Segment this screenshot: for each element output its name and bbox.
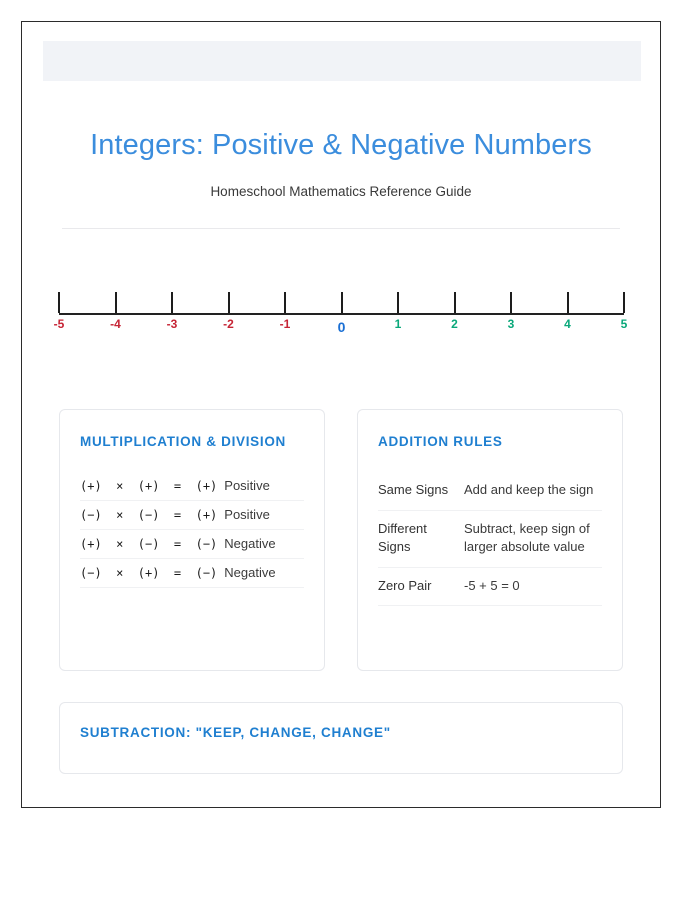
number-line-label: -4	[110, 317, 121, 331]
multiplication-rule-row: (+) × (+) = (+)Positive	[80, 472, 304, 501]
number-line-ticks	[59, 277, 624, 313]
number-line-tick	[58, 292, 60, 313]
number-line-tick	[510, 292, 512, 313]
addition-rules-table: Same SignsAdd and keep the signDifferent…	[378, 472, 602, 606]
number-line-label: 1	[395, 317, 402, 331]
rules-card-row: MULTIPLICATION & DIVISION (+) × (+) = (+…	[22, 409, 660, 671]
number-line-axis	[59, 313, 624, 315]
addition-rule-value: -5 + 5 = 0	[464, 567, 602, 605]
addition-rule-key: Same Signs	[378, 472, 464, 510]
header-divider	[62, 228, 620, 229]
number-line-tick	[454, 292, 456, 313]
number-line-tick	[228, 292, 230, 313]
multiplication-expression: (+) × (−) = (−)	[80, 537, 217, 551]
number-line-tick	[623, 292, 625, 313]
number-line-label: 3	[508, 317, 515, 331]
number-line-label: 0	[338, 319, 346, 335]
addition-rule-row: Zero Pair-5 + 5 = 0	[378, 567, 602, 605]
multiplication-division-card: MULTIPLICATION & DIVISION (+) × (+) = (+…	[59, 409, 325, 671]
multiplication-rule-row: (−) × (+) = (−)Negative	[80, 559, 304, 588]
addition-rule-row: Different SignsSubtract, keep sign of la…	[378, 510, 602, 567]
number-line-label: 2	[451, 317, 458, 331]
addition-rule-key: Different Signs	[378, 510, 464, 567]
multiplication-result-word: Negative	[224, 565, 275, 580]
number-line-tick	[115, 292, 117, 313]
subtraction-card-title: SUBTRACTION: "KEEP, CHANGE, CHANGE"	[80, 723, 602, 743]
addition-rule-key: Zero Pair	[378, 567, 464, 605]
document-content: Integers: Positive & Negative Numbers Ho…	[22, 22, 660, 774]
number-line-tick	[397, 292, 399, 313]
number-line-label: -5	[54, 317, 65, 331]
number-line-label: -1	[280, 317, 291, 331]
multiplication-expression: (−) × (+) = (−)	[80, 566, 217, 580]
multiplication-rule-row: (+) × (−) = (−)Negative	[80, 530, 304, 559]
number-line-tick	[284, 292, 286, 313]
number-line-tick	[341, 292, 343, 313]
multiplication-rule-row: (−) × (−) = (+)Positive	[80, 501, 304, 530]
multiplication-result-word: Positive	[224, 507, 270, 522]
number-line-label: -3	[167, 317, 178, 331]
multiplication-expression: (+) × (+) = (+)	[80, 479, 217, 493]
page-title: Integers: Positive & Negative Numbers	[22, 22, 660, 162]
number-line-tick	[567, 292, 569, 313]
subtraction-section: SUBTRACTION: "KEEP, CHANGE, CHANGE"	[22, 702, 660, 774]
subtraction-card: SUBTRACTION: "KEEP, CHANGE, CHANGE"	[59, 702, 623, 774]
number-line: -5-4-3-2-1012345	[22, 277, 660, 357]
number-line-tick	[171, 292, 173, 313]
addition-card-title: ADDITION RULES	[378, 432, 602, 452]
number-line-label: 5	[621, 317, 628, 331]
number-line-label: 4	[564, 317, 571, 331]
multiplication-result-word: Positive	[224, 478, 270, 493]
document-page: Integers: Positive & Negative Numbers Ho…	[21, 21, 661, 808]
addition-rules-card: ADDITION RULES Same SignsAdd and keep th…	[357, 409, 623, 671]
addition-rule-value: Add and keep the sign	[464, 472, 602, 510]
addition-rule-row: Same SignsAdd and keep the sign	[378, 472, 602, 510]
multiplication-expression: (−) × (−) = (+)	[80, 508, 217, 522]
multiplication-result-word: Negative	[224, 536, 275, 551]
multiplication-card-title: MULTIPLICATION & DIVISION	[80, 432, 304, 452]
number-line-labels: -5-4-3-2-1012345	[59, 317, 624, 341]
multiplication-rule-list: (+) × (+) = (+)Positive(−) × (−) = (+)Po…	[80, 472, 304, 588]
addition-rule-value: Subtract, keep sign of larger absolute v…	[464, 510, 602, 567]
number-line-label: -2	[223, 317, 234, 331]
page-subtitle: Homeschool Mathematics Reference Guide	[22, 162, 660, 199]
